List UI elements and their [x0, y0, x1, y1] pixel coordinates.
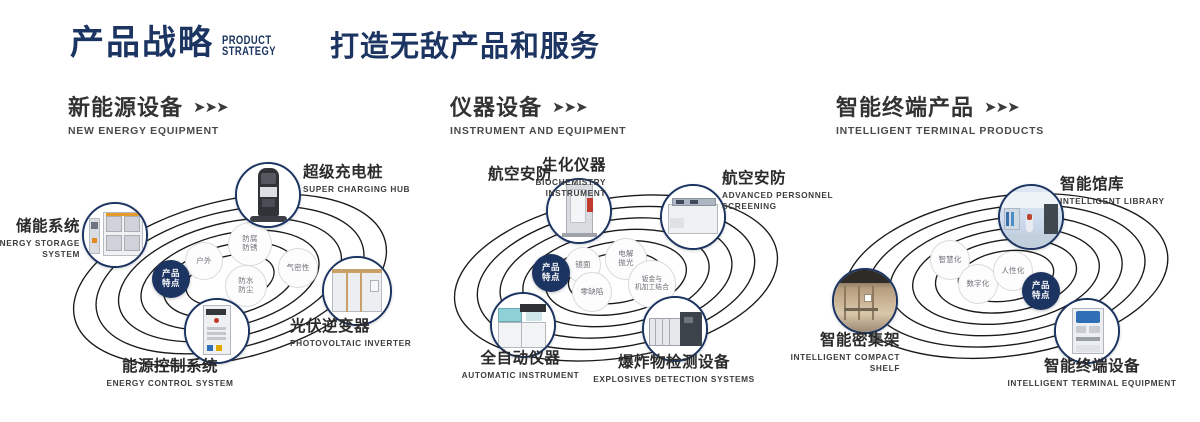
poster-canvas: 产品战略 PRODUCT STRATEGY 打造无敌产品和服务 新能源设备 ➤➤…	[0, 0, 1200, 422]
section-title-cn: 新能源设备	[68, 96, 183, 119]
page-title-en: PRODUCT STRATEGY	[222, 36, 276, 58]
feature-label: 钣金与 机加工结合	[635, 276, 669, 291]
feature-label: 智慧化	[938, 256, 961, 265]
node-label-biochemistry-instrument: 生化仪器 BIOCHEMISTRY INSTRUMENT	[450, 157, 606, 198]
node-label-en: PHOTOVOLTAIC INVERTER	[290, 338, 432, 349]
node-label-intelligent-compact-shelf: 智能密集架 INTELLIGENT COMPACT SHELF	[728, 332, 900, 373]
node-label-en: INTELLIGENT LIBRARY	[1060, 196, 1200, 207]
feature-label: 户外	[196, 257, 211, 266]
node-label-en: ENERGY STORAGE SYSTEM	[0, 238, 80, 260]
feature-bubble: 零缺陷	[572, 272, 612, 312]
node-label-cn: 生化仪器	[450, 157, 606, 175]
node-label-en: INTELLIGENT TERMINAL EQUIPMENT	[992, 378, 1192, 389]
node-photo-automatic-instrument[interactable]	[490, 292, 556, 358]
node-photo-intelligent-library[interactable]	[998, 184, 1064, 250]
node-label-cn: 智能馆库	[1060, 176, 1200, 194]
chevron-triple-icon: ➤➤➤	[984, 100, 1019, 115]
feature-label: 电解 抛光	[618, 250, 633, 267]
section-title-en: NEW ENERGY EQUIPMENT	[68, 125, 228, 137]
node-label-intelligent-library: 智能馆库 INTELLIGENT LIBRARY	[1060, 176, 1200, 207]
node-photo-intelligent-compact-shelf[interactable]	[832, 268, 898, 334]
section-title-en: INSTRUMENT AND EQUIPMENT	[450, 125, 626, 137]
node-label-cn: 储能系统	[0, 218, 80, 236]
node-label-energy-control-system: 能源控制系统 ENERGY CONTROL SYSTEM	[75, 358, 265, 389]
node-photo-super-charging-hub[interactable]	[235, 162, 301, 228]
chevron-triple-icon: ➤➤➤	[193, 100, 228, 115]
feature-label: 数字化	[966, 280, 989, 289]
node-label-cn: 能源控制系统	[75, 358, 265, 376]
section-title-new-energy-equipment: 新能源设备 ➤➤➤ NEW ENERGY EQUIPMENT	[68, 96, 228, 137]
node-label-energy-storage-system: 储能系统 ENERGY STORAGE SYSTEM	[0, 218, 80, 259]
core-bubble-product-features: 产品 特点	[1022, 272, 1060, 310]
diagram-intelligent-terminal-products: 智慧化 数字化 人性化 产品 特点 智能馆库	[810, 160, 1200, 395]
node-label-cn: 光伏逆变器	[290, 318, 432, 336]
section-title-instrument-and-equipment: 仪器设备 ➤➤➤ INSTRUMENT AND EQUIPMENT	[450, 96, 626, 137]
page-subtitle: 打造无敌产品和服务	[330, 33, 600, 62]
section-title-cn: 智能终端产品	[836, 96, 974, 119]
page-title: 产品战略	[70, 26, 214, 60]
core-bubble-product-features: 产品 特点	[532, 254, 570, 292]
feature-bubble: 防腐 防锈	[228, 222, 272, 266]
feature-label: 防水 防尘	[238, 277, 253, 294]
node-photo-energy-control-system[interactable]	[184, 298, 250, 364]
node-label-photovoltaic-inverter: 光伏逆变器 PHOTOVOLTAIC INVERTER	[290, 318, 432, 349]
section-title-intelligent-terminal-products: 智能终端产品 ➤➤➤ INTELLIGENT TERMINAL PRODUCTS	[836, 96, 1044, 137]
section-title-cn: 仪器设备	[450, 96, 542, 119]
feature-bubble: 户外	[185, 242, 223, 280]
core-label-line2: 特点	[162, 279, 180, 289]
feature-bubble: 气密性	[278, 248, 318, 288]
core-bubble-product-features: 产品 特点	[152, 260, 190, 298]
core-label-line2: 特点	[542, 273, 560, 283]
core-label-line2: 特点	[1032, 291, 1050, 301]
chevron-triple-icon: ➤➤➤	[552, 100, 587, 115]
diagram-new-energy-equipment: 户外 防腐 防锈 气密性 防水 防尘 产品 特点	[40, 160, 420, 395]
node-photo-energy-storage-system[interactable]	[82, 202, 148, 268]
section-title-en: INTELLIGENT TERMINAL PRODUCTS	[836, 125, 1044, 137]
poster-header: 产品战略 PRODUCT STRATEGY	[70, 26, 288, 60]
feature-bubble: 数字化	[958, 264, 998, 304]
node-photo-advanced-personnel-screening[interactable]	[660, 184, 726, 250]
feature-label: 人性化	[1001, 267, 1024, 276]
node-photo-photovoltaic-inverter[interactable]	[322, 256, 392, 326]
node-label-cn: 智能密集架	[728, 332, 900, 350]
node-photo-intelligent-terminal-equipment[interactable]	[1054, 298, 1120, 364]
feature-label: 气密性	[286, 264, 309, 273]
node-label-intelligent-terminal-equipment: 智能终端设备 INTELLIGENT TERMINAL EQUIPMENT	[992, 358, 1192, 389]
node-photo-explosives-detection-systems[interactable]	[642, 296, 708, 362]
node-label-en: EXPLOSIVES DETECTION SYSTEMS	[580, 374, 768, 385]
page-title-en-line2: STRATEGY	[222, 47, 276, 58]
node-label-en: INTELLIGENT COMPACT SHELF	[728, 352, 900, 374]
feature-label: 镜面	[575, 261, 590, 270]
feature-label: 零缺陷	[580, 288, 603, 297]
node-label-en: ENERGY CONTROL SYSTEM	[75, 378, 265, 389]
node-label-cn: 智能终端设备	[992, 358, 1192, 376]
feature-label: 防腐 防锈	[242, 235, 257, 252]
node-label-en: BIOCHEMISTRY INSTRUMENT	[450, 177, 606, 199]
node-label-en: SUPER CHARGING HUB	[303, 184, 433, 195]
